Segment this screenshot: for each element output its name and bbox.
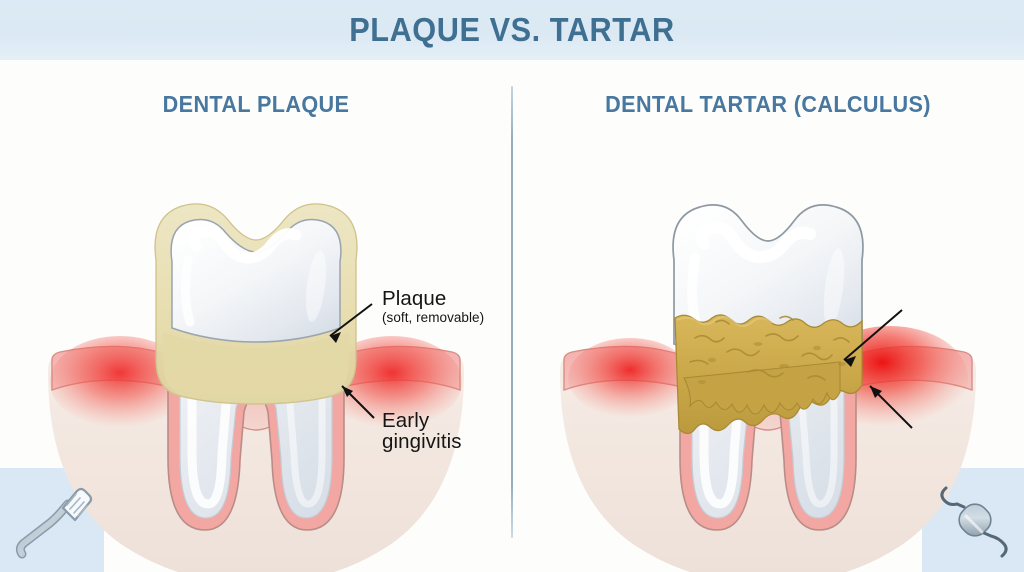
page-title: PLAQUE VS. TARTAR: [36, 9, 988, 51]
annotation-gingivitis: Early gingivitis: [382, 410, 462, 453]
gum-inflammation-left: [568, 338, 692, 418]
annotation-gingivitis-subtitle: gingivitis: [382, 431, 462, 452]
toothbrush-icon: [10, 474, 102, 566]
dental-scaler-icon: [930, 474, 1018, 566]
infographic-canvas: PLAQUE VS. TARTAR DENTAL PLAQUE: [0, 0, 1024, 572]
annotation-plaque-subtitle: (soft, removable): [382, 311, 484, 325]
annotation-gingivitis-title: Early: [382, 410, 462, 431]
annotation-plaque: Plaque (soft, removable): [382, 288, 484, 325]
annotation-plaque-title: Plaque: [382, 288, 484, 309]
